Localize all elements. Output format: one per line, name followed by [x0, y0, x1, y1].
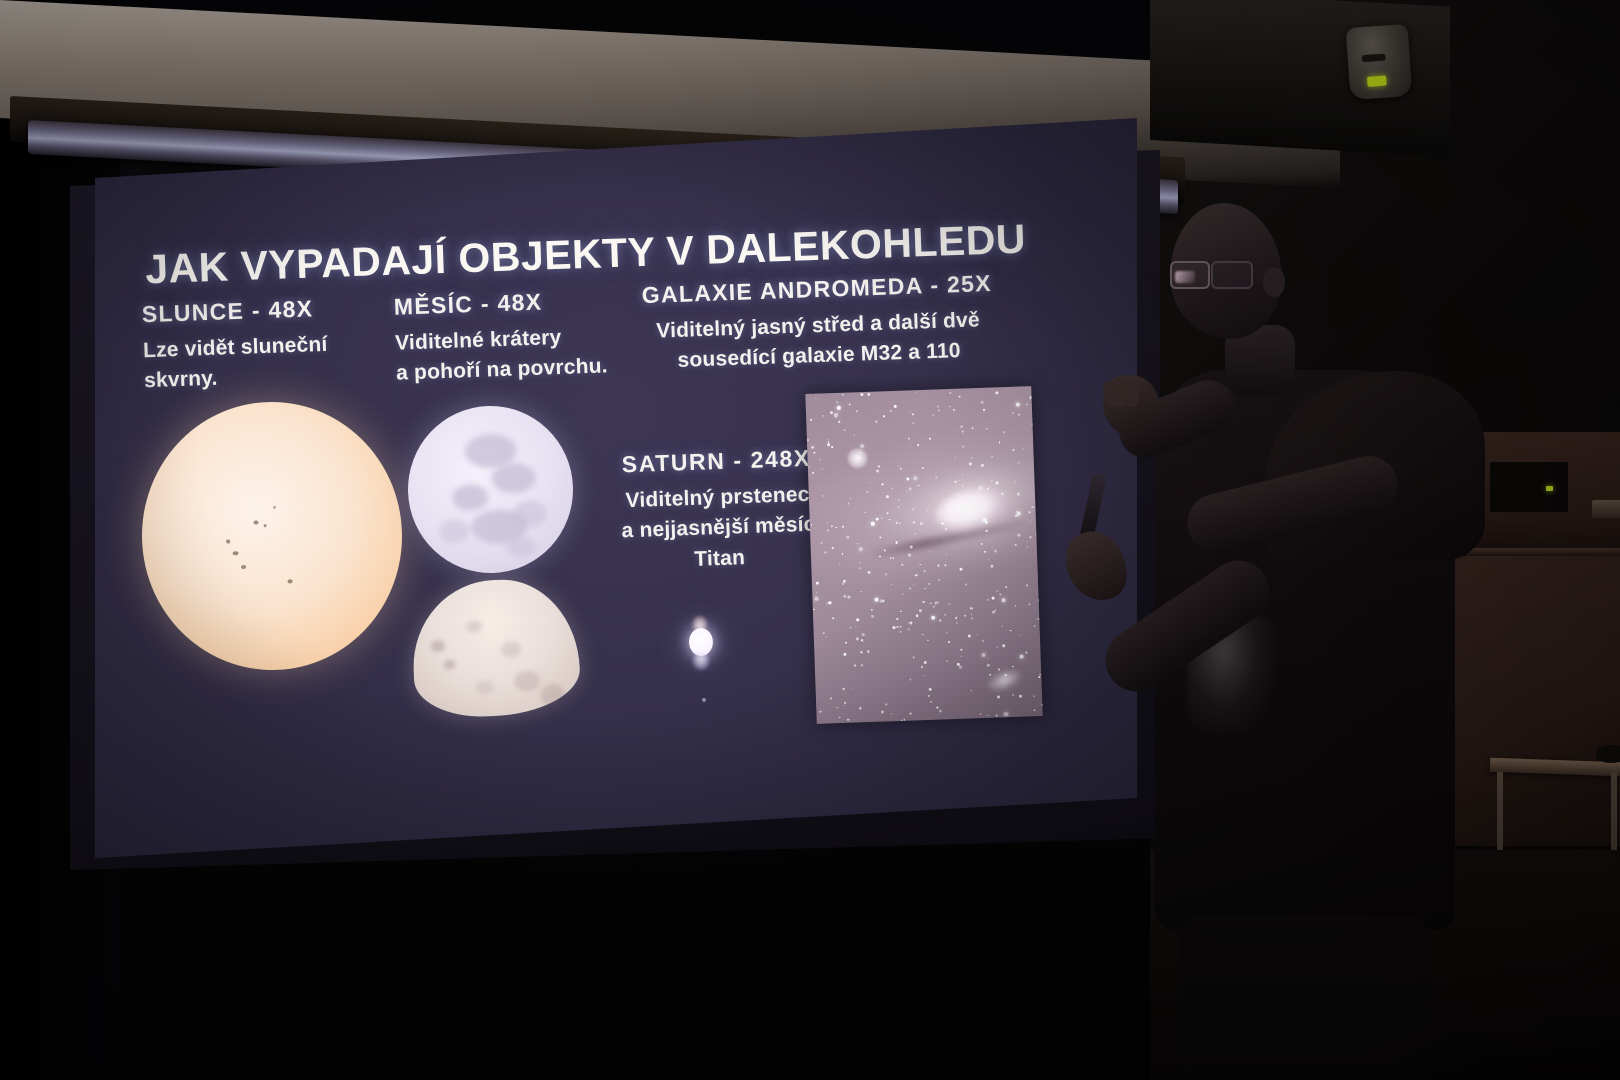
sun-photo	[137, 398, 406, 675]
object-on-table	[1596, 745, 1620, 763]
presentation-slide: JAK VYPADAJÍ OBJEKTY V DALEKOHLEDU SLUNC…	[95, 118, 1137, 858]
equipment-led-indicator	[1546, 486, 1553, 491]
section-moon-heading: MĚSÍC - 48X	[393, 286, 606, 320]
titan-moon-dot	[702, 698, 706, 702]
glasses-right-lens-icon	[1211, 261, 1253, 289]
andromeda-photo	[805, 386, 1042, 724]
wall-socket-plate	[1592, 500, 1620, 518]
section-andromeda-heading: GALAXIE ANDROMEDA - 25X	[621, 269, 1012, 310]
section-andromeda: GALAXIE ANDROMEDA - 25X Viditelný jasný …	[621, 269, 1014, 378]
slide-background: JAK VYPADAJÍ OBJEKTY V DALEKOHLEDU SLUNC…	[95, 118, 1137, 858]
detector-led-icon	[1367, 76, 1387, 87]
galaxy-m110	[985, 666, 1023, 695]
section-sun-body-line2: skvrny.	[144, 360, 329, 397]
section-sun: SLUNCE - 48X Lze vidět sluneční skvrny.	[141, 295, 329, 397]
section-saturn-heading: SATURN - 248X	[591, 444, 842, 480]
section-sun-heading: SLUNCE - 48X	[141, 295, 326, 328]
presenter-ear	[1263, 267, 1285, 297]
smoke-detector-icon	[1346, 24, 1413, 100]
section-moon: MĚSÍC - 48X Viditelné krátery a pohoří n…	[393, 286, 608, 389]
presenter-silhouette	[1075, 175, 1505, 1080]
scene-root: JAK VYPADAJÍ OBJEKTY V DALEKOHLEDU SLUNC…	[0, 0, 1620, 1080]
glasses-reflection	[1175, 271, 1195, 283]
detector-vent	[1361, 54, 1385, 63]
saturn-ring-bottom	[692, 652, 710, 671]
starfield	[805, 386, 1031, 394]
moon-photo	[405, 403, 576, 576]
presenter-legs	[1180, 915, 1430, 1080]
presenter-raised-hand	[1103, 375, 1159, 437]
moon-gibbous-photo	[411, 577, 582, 719]
section-moon-body-line2: a pohoří na povrchu.	[396, 352, 609, 390]
saturn-photo	[677, 611, 725, 675]
galaxy-halo	[805, 415, 1042, 614]
